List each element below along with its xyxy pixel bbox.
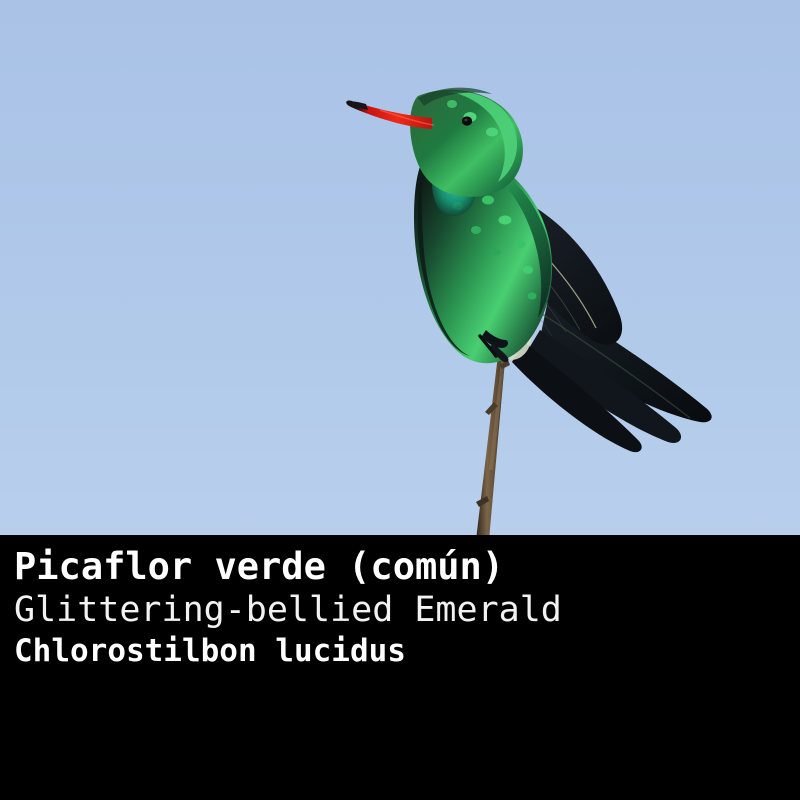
caption-titles: Picaflor verde (común) Glittering-bellie…	[14, 545, 610, 670]
caption-common-name-en: Glittering-bellied Emerald	[14, 589, 610, 631]
caption-band: Picaflor verde (común) Glittering-bellie…	[0, 535, 800, 800]
hummingbird-illustration	[0, 0, 800, 535]
photograph	[0, 0, 800, 535]
caption-scientific-name: Chlorostilbon lucidus	[14, 631, 610, 670]
caption-common-name-es: Picaflor verde (común)	[14, 545, 610, 589]
screenshot-root: Picaflor verde (común) Glittering-bellie…	[0, 0, 800, 800]
